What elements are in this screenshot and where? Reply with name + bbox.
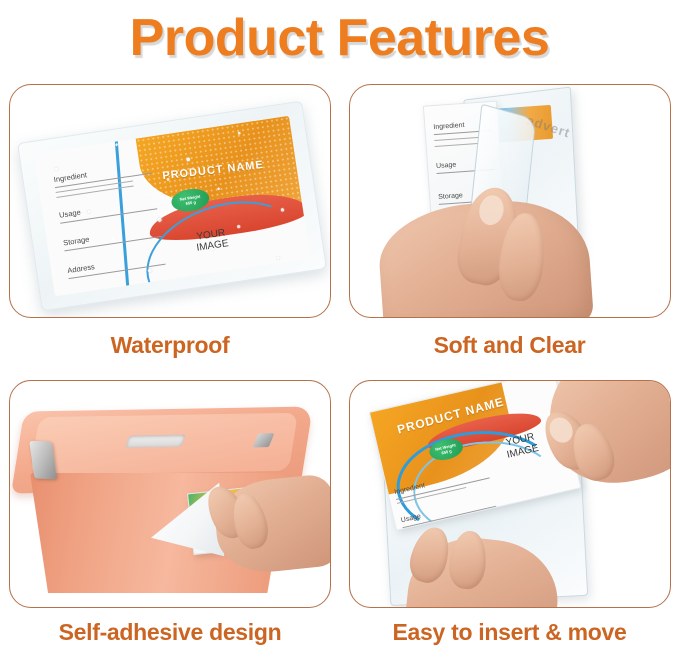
field-label-usage: Usage	[435, 162, 456, 170]
feature-cell-soft-and-clear: advert Ingredient Usage Storage	[340, 84, 679, 380]
waterproof-pouch-image: Net Weight 650 g PRODUCT NAME YOUR IMAGE…	[17, 101, 327, 312]
field-label-ingredient: Ingredient	[53, 170, 87, 184]
feature-caption-self-adhesive: Self-adhesive design	[59, 619, 282, 646]
features-grid: Net Weight 650 g PRODUCT NAME YOUR IMAGE…	[0, 84, 679, 664]
field-label-storage: Storage	[438, 192, 463, 201]
feature-panel-self-adhesive	[9, 380, 331, 608]
label-field-list: Ingredient Usage Storage	[52, 155, 165, 279]
your-image-text: YOUR IMAGE	[194, 227, 229, 255]
feature-caption-soft-and-clear: Soft and Clear	[434, 332, 586, 359]
field-label-ingredient: Ingredient	[433, 122, 465, 131]
field-row: Ingredient	[52, 155, 153, 198]
field-row: Storage	[62, 218, 162, 251]
feature-panel-waterproof: Net Weight 650 g PRODUCT NAME YOUR IMAGE…	[9, 84, 331, 318]
field-label-usage: Usage	[400, 513, 421, 524]
fingernail	[545, 413, 577, 447]
feature-panel-soft-and-clear: advert Ingredient Usage Storage	[349, 84, 671, 318]
field-label-usage: Usage	[58, 208, 81, 220]
feature-caption-waterproof: Waterproof	[111, 332, 230, 359]
feature-caption-easy-insert: Easy to insert & move	[392, 619, 626, 646]
insert-card-artwork: Net Weight 650 g PRODUCT NAME YOUR IMAGE…	[34, 116, 310, 297]
feature-panel-easy-insert: Net Weight 650 g PRODUCT NAME YOUR IMAGE…	[349, 380, 671, 608]
page-title: Product Features	[0, 0, 679, 70]
feature-cell-waterproof: Net Weight 650 g PRODUCT NAME YOUR IMAGE…	[0, 84, 340, 380]
field-subline	[434, 143, 479, 147]
feature-cell-easy-insert: Net Weight 650 g PRODUCT NAME YOUR IMAGE…	[340, 380, 679, 664]
fingernail	[476, 193, 506, 227]
field-label-address: Address	[67, 262, 96, 275]
bin-handle-slot	[125, 435, 186, 448]
feature-cell-self-adhesive: Self-adhesive design	[0, 380, 340, 664]
field-subline	[434, 137, 479, 141]
field-label-storage: Storage	[63, 235, 90, 248]
